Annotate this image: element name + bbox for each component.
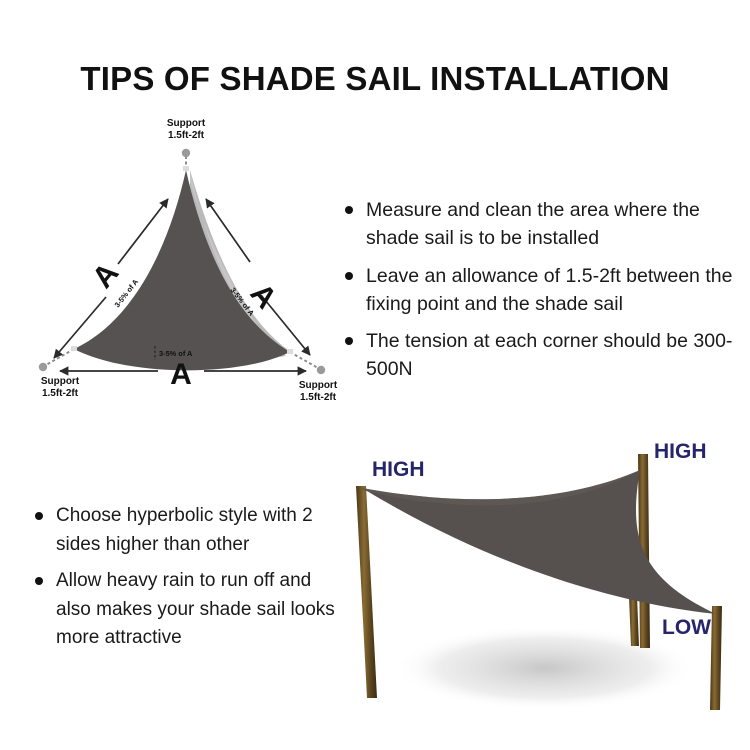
- list-item: Allow heavy rain to run off and also mak…: [34, 567, 344, 653]
- dimension-label-base-A: A: [170, 358, 192, 391]
- page-title: TIPS OF SHADE SAIL INSTALLATION: [0, 60, 750, 98]
- post-left: [356, 486, 377, 698]
- corner-label-left-high: HIGH: [372, 458, 425, 481]
- support-dot-bottom-left: [39, 363, 47, 371]
- corner-label-right-high: HIGH: [654, 440, 707, 463]
- support-label-top: Support: [167, 118, 206, 129]
- fixing-point-top: [183, 166, 189, 171]
- hyperbolic-tips-list: Choose hyperbolic style with 2 sides hig…: [34, 502, 344, 661]
- support-distance-bottom-left: 1.5ft-2ft: [42, 388, 79, 399]
- list-item: Choose hyperbolic style with 2 sides hig…: [34, 502, 344, 559]
- ground-shadow: [395, 626, 695, 710]
- list-item: Measure and clean the area where the sha…: [344, 196, 742, 253]
- installation-tips-list: Measure and clean the area where the sha…: [344, 196, 742, 393]
- fixing-point-bottom-right: [287, 349, 293, 354]
- fixing-point-bottom-left: [71, 346, 77, 351]
- list-item: Leave an allowance of 1.5-2ft between th…: [344, 262, 742, 319]
- infographic-page: TIPS OF SHADE SAIL INSTALLATION: [0, 0, 750, 750]
- hyperbolic-sail-diagram: HIGH HIGH LOW: [340, 428, 744, 732]
- hyperbolic-sail-fabric: [362, 470, 716, 614]
- support-dot-top: [182, 149, 190, 157]
- support-label-bottom-left: Support: [41, 376, 80, 387]
- list-item: The tension at each corner should be 300…: [344, 327, 742, 384]
- support-distance-bottom-right: 1.5ft-2ft: [300, 392, 337, 403]
- corner-label-front-low: LOW: [662, 616, 711, 639]
- support-label-bottom-right: Support: [299, 380, 338, 391]
- support-distance-top: 1.5ft-2ft: [168, 130, 205, 141]
- allowance-label-base: 3-5% of A: [159, 349, 193, 358]
- triangle-diagram: A 3-5% of A A 3-5% of A A 3-5% of A Supp…: [18, 112, 358, 412]
- post-right-low: [710, 606, 722, 710]
- support-dot-bottom-right: [317, 366, 325, 374]
- tether-bottom-right: [290, 352, 318, 368]
